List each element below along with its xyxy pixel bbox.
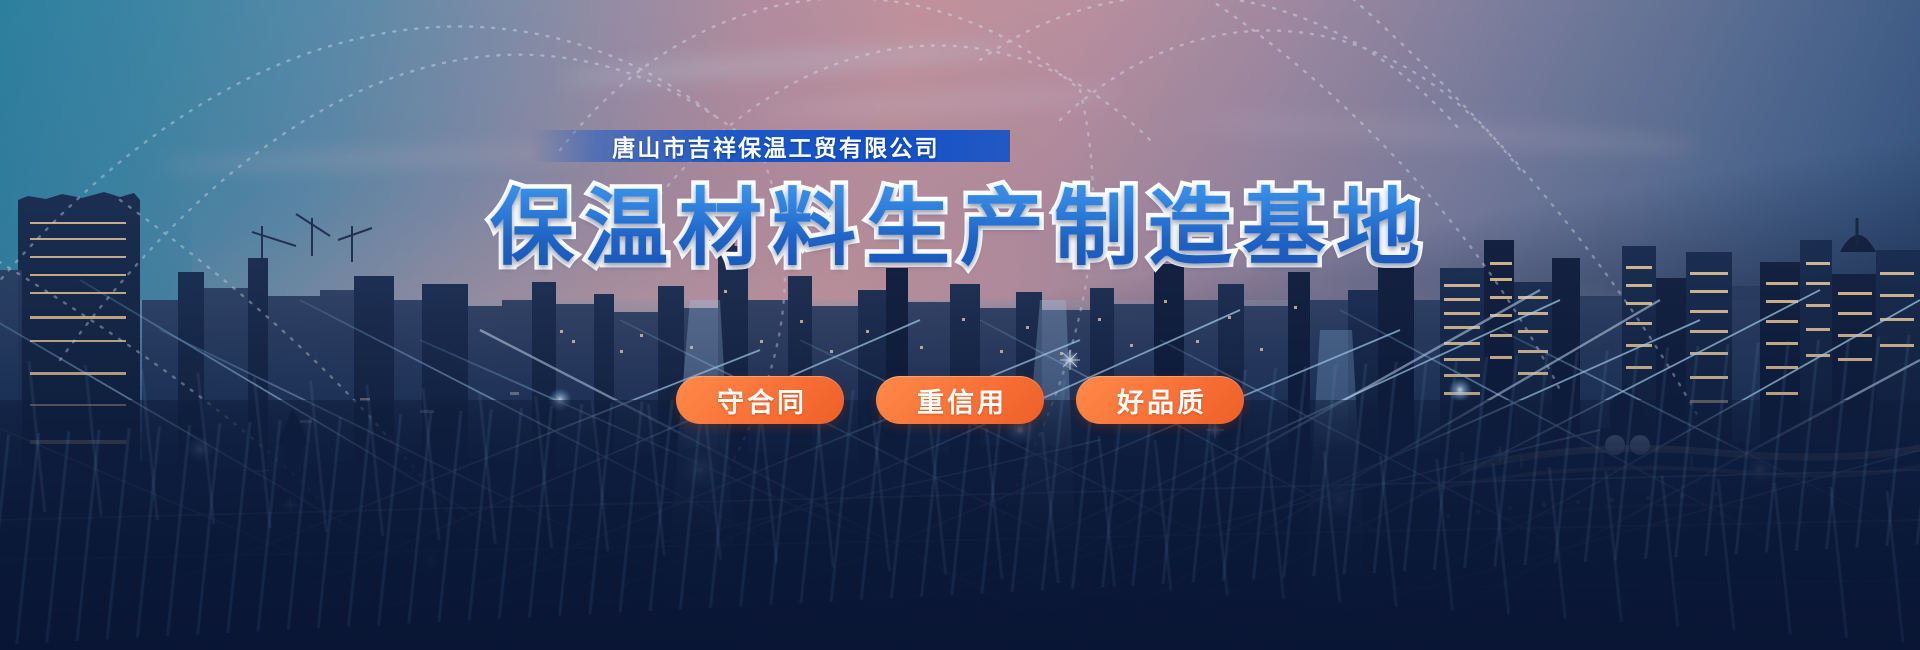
slogan-pill-label: 重信用 — [917, 381, 1007, 420]
hero-banner: 唐山市吉祥保温工贸有限公司 保温材料生产制造基地 保温材料生产制造基地 守合同 … — [0, 0, 1920, 650]
slogan-pill-label: 守合同 — [717, 381, 807, 420]
headline-text: 保温材料生产制造基地 — [490, 184, 1430, 272]
company-name-ribbon: 唐山市吉祥保温工贸有限公司 — [530, 130, 1010, 162]
slogan-pill-zhong-xin-yong[interactable]: 重信用 — [876, 376, 1044, 424]
slogan-pill-group: 守合同 重信用 好品质 — [0, 376, 1920, 424]
slogan-pill-hao-pin-zhi[interactable]: 好品质 — [1076, 376, 1244, 424]
headline-group: 保温材料生产制造基地 保温材料生产制造基地 — [0, 184, 1920, 272]
slogan-pill-shou-he-tong[interactable]: 守合同 — [676, 376, 844, 424]
banner-content: 唐山市吉祥保温工贸有限公司 保温材料生产制造基地 保温材料生产制造基地 守合同 … — [0, 0, 1920, 650]
company-name-text: 唐山市吉祥保温工贸有限公司 — [612, 129, 940, 163]
slogan-pill-label: 好品质 — [1117, 381, 1207, 420]
